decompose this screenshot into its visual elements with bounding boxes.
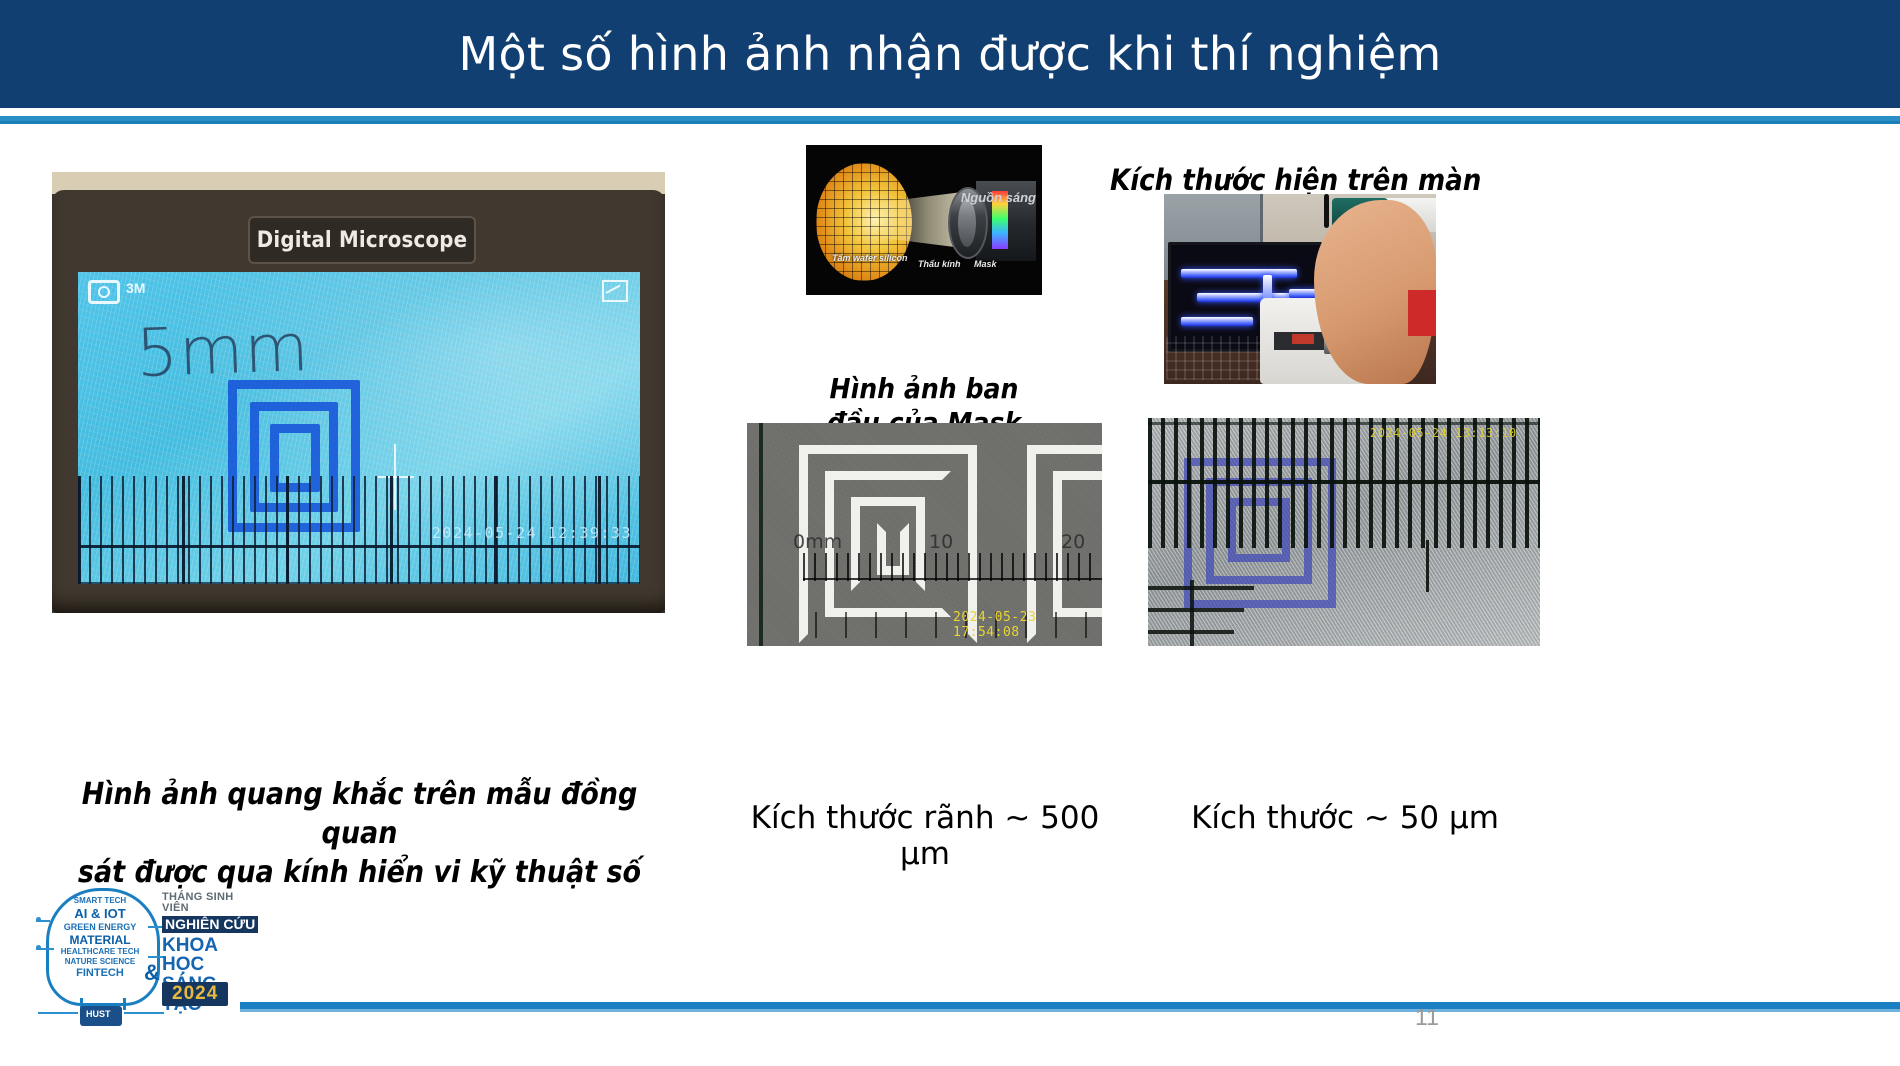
ruler-line-middle (1148, 480, 1540, 484)
chip-label: HUST (86, 1009, 111, 1019)
light-source-label-text: Nguồn sáng (961, 190, 1036, 205)
ruler-line-top (1148, 422, 1540, 425)
ruler-tick-label-20: 20 (1061, 531, 1085, 553)
photo-timestamp: 2024-05-24 12:39:33 (432, 524, 632, 542)
camera-icon (88, 280, 120, 304)
circuit-node (36, 945, 41, 950)
logo-line-3: KHOA HỌC (162, 936, 262, 975)
ruler-baseline (803, 578, 1102, 580)
mask-label: Mask (974, 259, 997, 269)
logo-year: 2024 (162, 982, 228, 1006)
microscope-bezel: Digital Microscope 3M 5mm 2024-05-24 12:… (52, 190, 665, 613)
lens-label: Thấu kính (918, 259, 961, 269)
logo-keyword: NATURE SCIENCE (50, 957, 150, 967)
ruler-ticks (803, 553, 1093, 581)
wafer-label: Tấm wafer silicon (832, 253, 908, 263)
microscope-screen: 3M 5mm 2024-05-24 12:39:33 (78, 272, 640, 584)
sample-edge (759, 423, 763, 646)
ruler-lower-line (1148, 586, 1254, 590)
figure-mask-diagram: Nguồn sáng Tấm wafer silicon Thấu kính M… (806, 145, 1042, 295)
logo-keyword: FINTECH (50, 967, 150, 980)
ruler-lower-line (1148, 608, 1244, 612)
camera-cable (1324, 194, 1329, 228)
logo-keyword: GREEN ENERGY (50, 922, 150, 933)
figure-digital-microscope-photo: Digital Microscope 3M 5mm 2024-05-24 12:… (52, 172, 665, 613)
circuit-trace (38, 1012, 78, 1014)
microscope-sample (1292, 334, 1314, 344)
circuit-node (36, 917, 41, 922)
caption-groove-500um: Kích thước rãnh ~ 500 μm (740, 800, 1110, 872)
logo-line-2: NGHIÊN CỨU (162, 916, 258, 932)
caption-digital-microscope: Hình ảnh quang khắc trên mẫu đồng quan s… (52, 775, 667, 892)
heading-screen-size: Kích thước hiện trên màn (1110, 163, 1590, 197)
title-banner: Một số hình ảnh nhận được khi thí nghiệm (0, 0, 1900, 108)
figure-size-50um-photo: 2024-05-24 13:13:10 (1148, 418, 1540, 646)
photo-timestamp: 2024-05-23 17:54:08 (953, 610, 1102, 640)
page-title: Một số hình ảnh nhận được khi thí nghiệm (458, 27, 1441, 81)
device-nameplate-text: Digital Microscope (257, 228, 468, 253)
lightbulb-keyword-list: SMART TECH AI & IOT GREEN ENERGY MATERIA… (50, 896, 150, 980)
photo-timestamp: 2024-05-24 13:13:10 (1370, 426, 1517, 440)
logo-line-1: THÁNG SINH VIÊN (162, 892, 262, 914)
ruler-tick-label-10: 10 (929, 531, 953, 553)
figure-lab-setup-photo (1164, 194, 1436, 384)
chip-icon: HUST (80, 1006, 122, 1026)
ruler-long-tick (1426, 540, 1429, 592)
red-object (1408, 290, 1436, 336)
logo-keyword: HEALTHCARE TECH (50, 947, 150, 957)
ruler-tick-label-0: 0mm (793, 531, 842, 553)
logo-keyword: AI & IOT (50, 906, 150, 922)
monitor-pattern-line (1181, 269, 1297, 278)
page-number: 11 (1415, 1004, 1439, 1031)
monitor-pattern-line (1181, 317, 1253, 326)
light-source-label: Nguồn sáng (961, 191, 1036, 205)
ruler-baseline (78, 545, 640, 548)
header-divider-secondary (0, 121, 1900, 124)
ruler-vertical-line (1190, 580, 1194, 646)
logo-keyword: MATERIAL (50, 933, 150, 948)
event-logo: HUST SMART TECH AI & IOT GREEN ENERGY MA… (36, 886, 258, 1026)
exposure-icon (602, 280, 628, 302)
caption-line-1: Hình ảnh quang khắc trên mẫu đồng quan (52, 775, 667, 853)
logo-keyword: SMART TECH (50, 896, 150, 906)
caption-size-50um: Kích thước ~ 50 μm (1150, 800, 1540, 836)
device-nameplate: Digital Microscope (248, 216, 476, 264)
figure-groove-500um-photo: 0mm 10 20 2024-05-23 17:54:08 (747, 423, 1102, 646)
caption-line-1: Hình ảnh ban (806, 372, 1042, 406)
footer-divider (240, 1002, 1900, 1009)
zoom-level-label: 3M (126, 280, 145, 296)
slide-root: Một số hình ảnh nhận được khi thí nghiệm… (0, 0, 1900, 1066)
logo-ampersand: & (144, 960, 160, 986)
circuit-trace (124, 1012, 164, 1014)
ruler-baseline-secondary (78, 582, 640, 584)
